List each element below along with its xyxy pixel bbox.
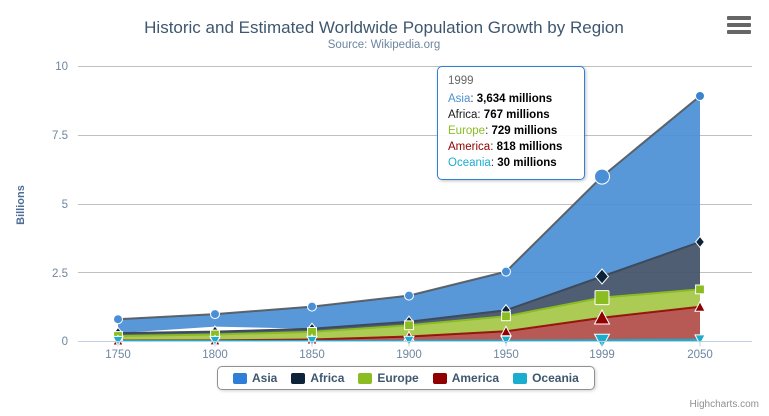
chart-container: Historic and Estimated Worldwide Populat… (0, 0, 769, 416)
legend-label-america: America (452, 371, 499, 385)
hamburger-bar-3 (727, 30, 751, 34)
y-tick-label-7-5: 7.5 (52, 130, 68, 142)
x-tick-label-1850: 1850 (299, 349, 325, 361)
x-tick-label-1950: 1950 (493, 349, 519, 361)
marker-asia-1900[interactable] (405, 291, 414, 300)
x-tick-label-1750: 1750 (105, 349, 131, 361)
legend-item-asia[interactable]: Asia (233, 371, 277, 385)
marker-europe-1950[interactable] (502, 312, 511, 321)
hamburger-bar-1 (727, 16, 751, 20)
marker-europe-1999[interactable] (595, 291, 609, 305)
legend-item-oceania[interactable]: Oceania (513, 371, 579, 385)
y-axis-title: Billions (15, 185, 27, 225)
legend-label-oceania: Oceania (532, 371, 579, 385)
marker-asia-1950[interactable] (502, 267, 511, 276)
chart-subtitle: Source: Wikipedia.org (328, 39, 441, 51)
y-tick-label-5: 5 (62, 199, 68, 211)
hamburger-menu-icon[interactable] (727, 15, 751, 35)
legend-label-asia: Asia (252, 371, 277, 385)
x-tick-label-1999: 1999 (589, 349, 615, 361)
marker-asia-1750[interactable] (114, 315, 123, 324)
y-tick-label-2-5: 2.5 (52, 268, 68, 280)
marker-europe-1900[interactable] (405, 321, 414, 330)
hamburger-bar-2 (727, 23, 751, 27)
marker-asia-1850[interactable] (308, 302, 317, 311)
x-tick-label-2050: 2050 (687, 349, 713, 361)
y-tick-label-0: 0 (62, 336, 68, 348)
marker-asia-2050[interactable] (696, 92, 705, 101)
legend-swatch-asia (233, 373, 247, 384)
legend-swatch-oceania (513, 373, 527, 384)
x-tick-label-1800: 1800 (202, 349, 228, 361)
chart-svg: Historic and Estimated Worldwide Populat… (0, 0, 769, 416)
legend-item-america[interactable]: America (433, 371, 499, 385)
legend-item-europe[interactable]: Europe (358, 371, 418, 385)
chart-legend: Asia Africa Europe America Oceania (217, 366, 595, 390)
legend-swatch-africa (291, 373, 305, 384)
legend-swatch-europe (358, 373, 372, 384)
legend-item-africa[interactable]: Africa (291, 371, 344, 385)
credits-link[interactable]: Highcharts.com (690, 399, 759, 410)
marker-asia-1800[interactable] (211, 310, 220, 319)
legend-label-africa: Africa (310, 371, 344, 385)
y-tick-label-10: 10 (55, 61, 68, 73)
x-tick-label-1900: 1900 (396, 349, 422, 361)
marker-asia-1999[interactable] (595, 169, 610, 184)
marker-europe-2050[interactable] (696, 285, 705, 294)
legend-label-europe: Europe (377, 371, 418, 385)
legend-swatch-america (433, 373, 447, 384)
chart-title: Historic and Estimated Worldwide Populat… (144, 18, 624, 37)
